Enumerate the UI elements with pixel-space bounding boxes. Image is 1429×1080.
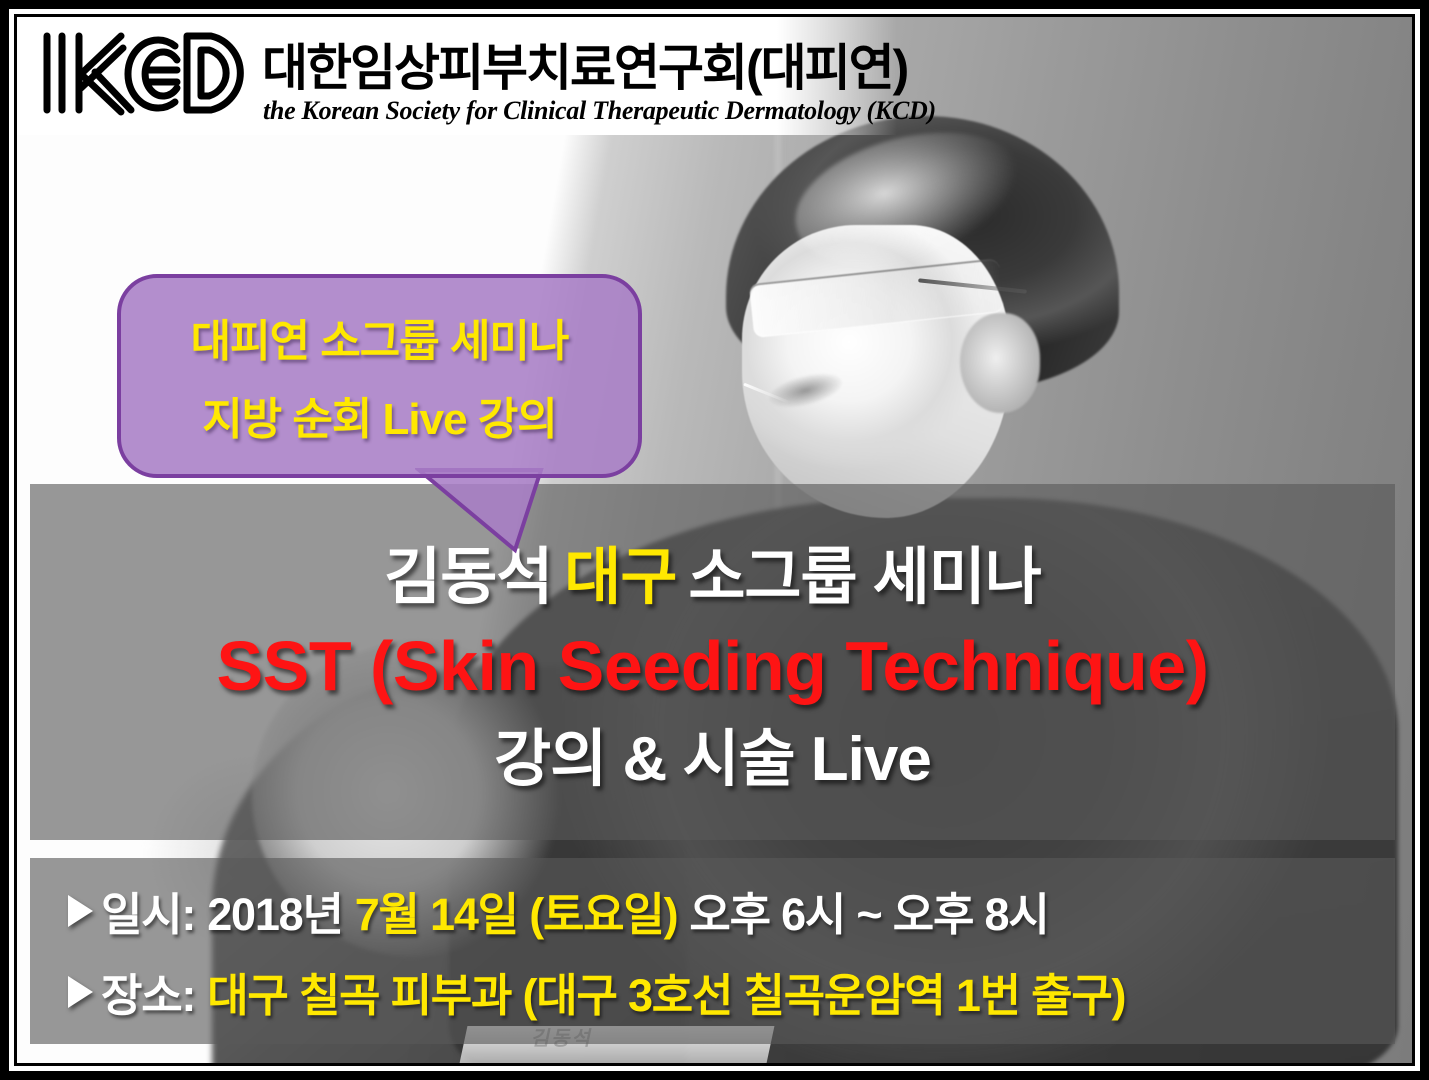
main-title-line-2: SST (Skin Seeding Technique)	[216, 626, 1208, 706]
kcd-monogram-logo-icon	[35, 26, 260, 120]
info-venue-highlight: 대구 칠곡 피부과 (대구 3호선 칠곡운암역 1번 출구)	[207, 959, 1125, 1024]
bubble-line-1: 대피연 소그룹 세미나	[191, 305, 569, 369]
triangle-right-icon	[68, 895, 93, 927]
info-band: 일시: 2018년7월 14일 (토요일)오후 6시 ~ 오후 8시 장소: 대…	[30, 858, 1395, 1044]
info-date-time: 오후 6시 ~ 오후 8시	[689, 878, 1048, 943]
info-row-venue: 장소: 대구 칠곡 피부과 (대구 3호선 칠곡운암역 1번 출구)	[68, 959, 1395, 1024]
main-title-band: 김동석대구소그룹 세미나 SST (Skin Seeding Technique…	[30, 484, 1395, 840]
info-date-year: 2018년	[207, 878, 343, 943]
org-name-korean: 대한임상피부치료연구회(대피연)	[262, 28, 907, 100]
photo-ear	[960, 313, 1040, 413]
org-name-english: the Korean Society for Clinical Therapeu…	[263, 96, 936, 126]
main-title-line-3: 강의 & 시술 Live	[494, 708, 931, 798]
title-event-type: 소그룹 세미나	[688, 543, 1040, 612]
bubble-line-2: 지방 순회 Live 강의	[202, 383, 557, 447]
speech-bubble-tail	[415, 466, 545, 556]
info-date-highlight: 7월 14일 (토요일)	[355, 878, 678, 943]
triangle-right-icon	[68, 976, 93, 1008]
title-city-highlight: 대구	[564, 543, 676, 612]
info-label-venue: 장소:	[101, 959, 195, 1024]
photo-head	[701, 116, 1120, 534]
seminar-poster: 김동석	[0, 0, 1429, 1080]
speech-bubble: 대피연 소그룹 세미나 지방 순회 Live 강의	[117, 274, 642, 478]
info-row-date: 일시: 2018년7월 14일 (토요일)오후 6시 ~ 오후 8시	[68, 878, 1395, 943]
info-label-date: 일시:	[101, 878, 195, 943]
